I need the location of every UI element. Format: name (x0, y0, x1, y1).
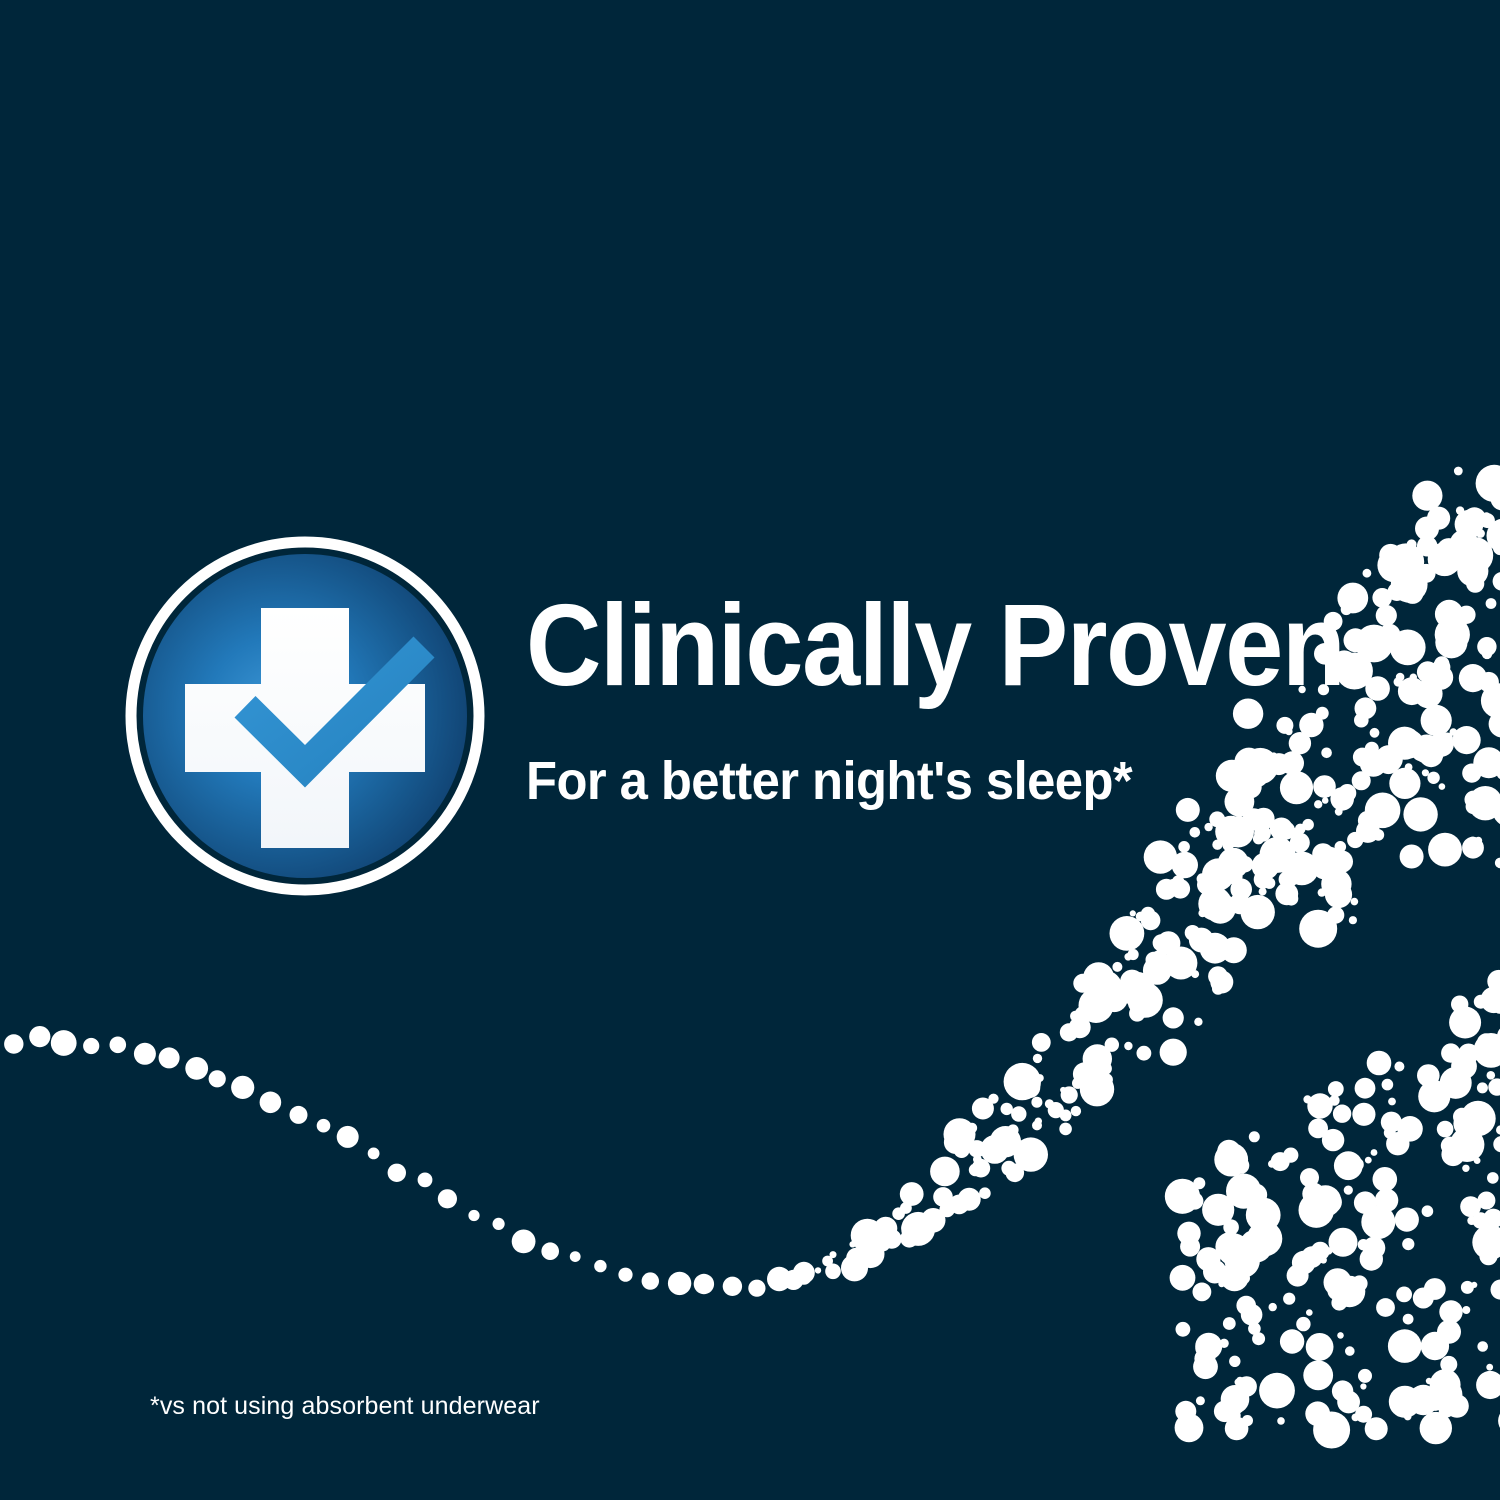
promo-banner: Clinically Proven For a better night's s… (0, 0, 1500, 1500)
clinically-proven-seal (125, 536, 485, 896)
headline-block: Clinically Proven For a better night's s… (526, 592, 1446, 808)
footnote-disclaimer: *vs not using absorbent underwear (150, 1392, 540, 1421)
page-subtitle: For a better night's sleep* (526, 699, 1391, 808)
page-title: Clinically Proven (526, 592, 1354, 699)
